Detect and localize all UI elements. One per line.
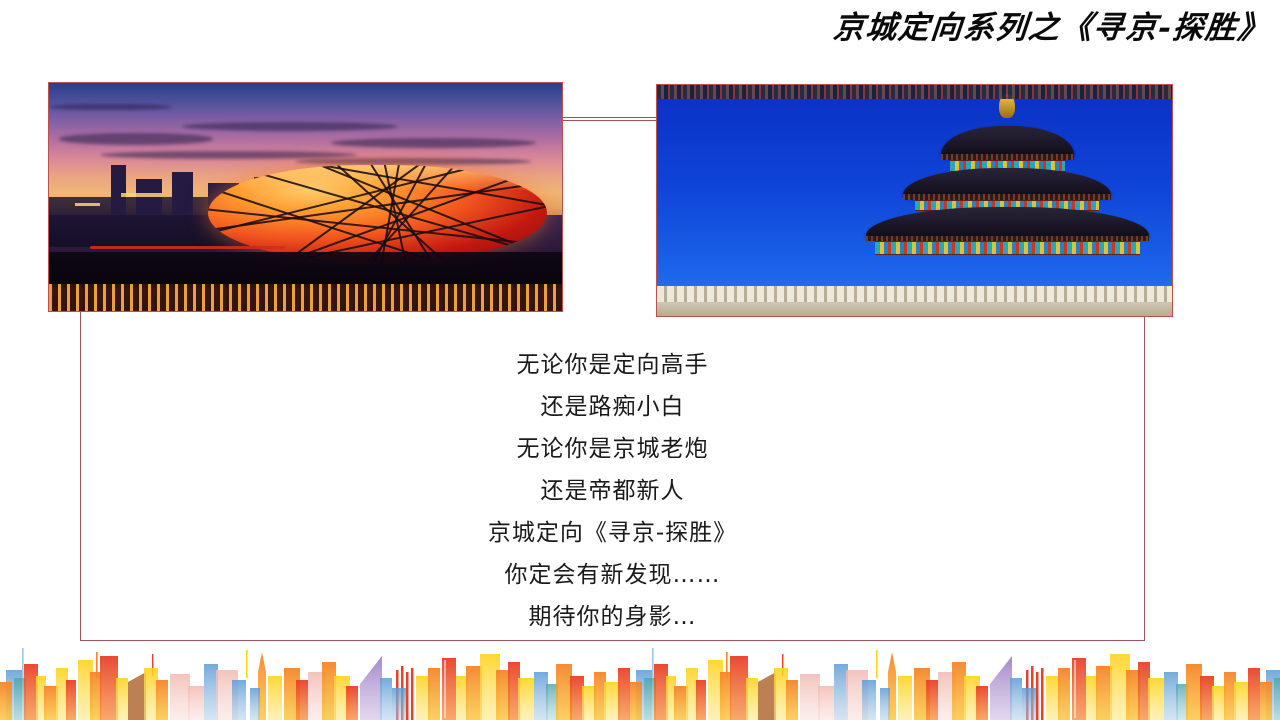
slide-canvas: 京城定向系列之《寻京-探胜》 [0,0,1280,720]
marble-terrace [657,286,1172,316]
verse-line: 京城定向《寻京-探胜》 [80,512,1145,554]
verse-block: 无论你是定向高手 还是路痴小白 无论你是京城老炮 还是帝都新人 京城定向《寻京-… [80,344,1145,638]
cloud [59,133,213,144]
building-light [75,203,101,206]
roof-tier-1 [941,126,1074,160]
verse-line: 无论你是定向高手 [80,344,1145,386]
balustrade [657,286,1172,302]
building-light [121,193,162,197]
verse-line: 无论你是京城老炮 [80,428,1145,470]
verse-line: 你定会有新发现…… [80,554,1145,596]
verse-line: 期待你的身影… [80,596,1145,638]
roof-tier-2 [903,168,1111,200]
photo-birds-nest-stadium [48,82,563,312]
connector-line [562,117,658,118]
skyline-tower [136,179,162,215]
light-trail [90,246,285,249]
visitor-crowd [657,85,1172,99]
photo-temple-of-heaven [656,84,1173,317]
decorative-band-3 [875,241,1140,255]
skyline-tower [172,172,193,215]
roof-tier-3 [866,207,1149,241]
cloud [331,138,536,148]
page-title: 京城定向系列之《寻京-探胜》 [768,6,1272,50]
temple-structure [863,94,1151,293]
verse-line: 还是路痴小白 [80,386,1145,428]
skyline-tower [111,165,126,215]
cloud [182,122,397,131]
street-lights [49,284,562,311]
bottom-cityscape-decoration [0,642,1280,720]
verse-line: 还是帝都新人 [80,470,1145,512]
